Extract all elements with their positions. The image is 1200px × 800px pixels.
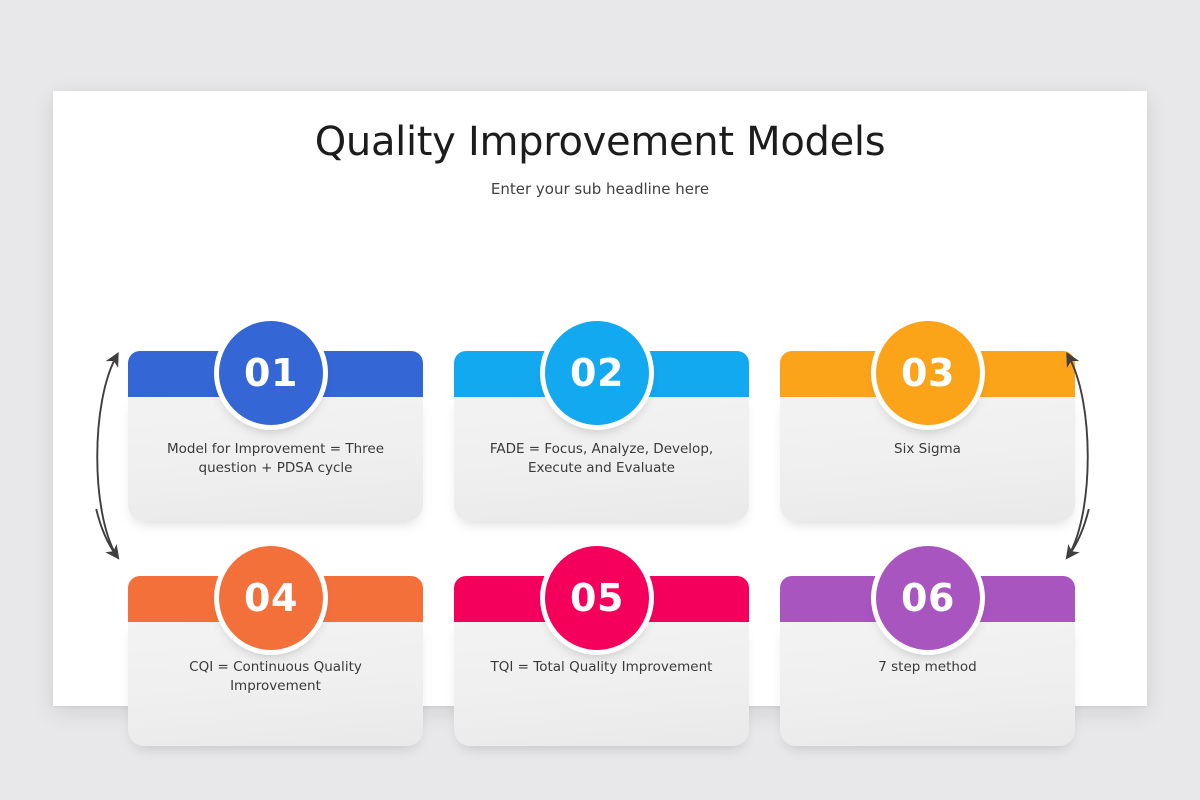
- card-01-label: Model for Improvement = Three question +…: [142, 440, 409, 478]
- card-03-number-circle[interactable]: 03: [876, 321, 980, 425]
- card-02-number-circle[interactable]: 02: [545, 321, 649, 425]
- left-double-arrow-icon: [83, 341, 129, 571]
- page-title: Quality Improvement Models: [53, 91, 1147, 165]
- card-02[interactable]: FADE = Focus, Analyze, Develop, Execute …: [454, 243, 749, 423]
- right-double-arrow-icon: [1056, 341, 1102, 571]
- card-01-number-circle[interactable]: 01: [219, 321, 323, 425]
- card-03-label: Six Sigma: [794, 440, 1061, 459]
- card-02-label: FADE = Focus, Analyze, Develop, Execute …: [468, 440, 735, 478]
- slide-canvas: Quality Improvement Models Enter your su…: [53, 91, 1147, 706]
- card-05-number-circle[interactable]: 05: [545, 546, 649, 650]
- card-04-number: 04: [244, 579, 298, 617]
- card-05-number: 05: [570, 579, 624, 617]
- card-04-number-circle[interactable]: 04: [219, 546, 323, 650]
- card-01[interactable]: Model for Improvement = Three question +…: [128, 243, 423, 423]
- card-02-number: 02: [570, 354, 624, 392]
- card-06-number-circle[interactable]: 06: [876, 546, 980, 650]
- card-01-number: 01: [244, 354, 298, 392]
- card-03-number: 03: [901, 354, 955, 392]
- card-06-label: 7 step method: [794, 658, 1061, 677]
- page-subtitle: Enter your sub headline here: [53, 165, 1147, 198]
- card-04-label: CQI = Continuous Quality Improvement: [142, 658, 409, 696]
- card-grid: Model for Improvement = Three question +…: [128, 243, 1128, 663]
- card-03[interactable]: Six Sigma 03: [780, 243, 1075, 423]
- card-06-number: 06: [901, 579, 955, 617]
- slide-stage: Quality Improvement Models Enter your su…: [0, 0, 1200, 800]
- slide-header: Quality Improvement Models Enter your su…: [53, 91, 1147, 198]
- card-05-label: TQI = Total Quality Improvement: [468, 658, 735, 677]
